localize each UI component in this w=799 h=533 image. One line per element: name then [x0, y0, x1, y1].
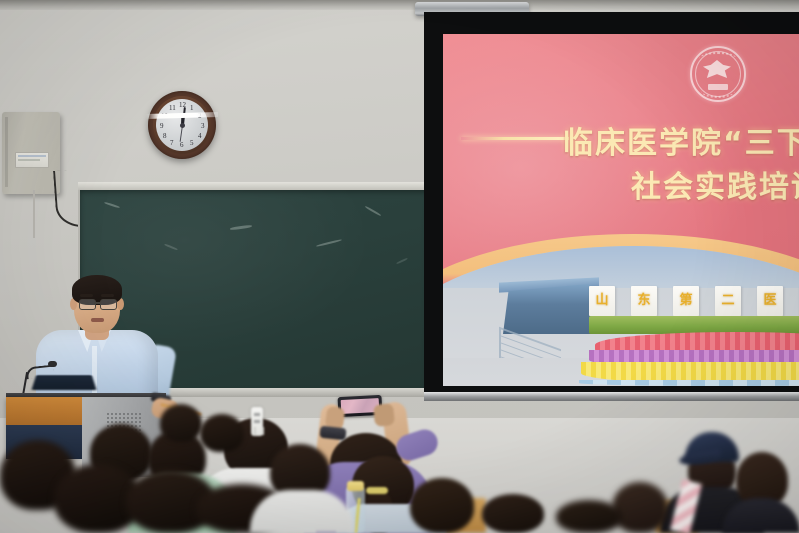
hair-clip — [251, 407, 263, 436]
university-crest-icon — [690, 46, 746, 102]
audience-head — [482, 494, 544, 533]
wall-conduit — [33, 190, 35, 238]
clock-center-pin — [180, 123, 185, 128]
presenter-eyebrow-right — [101, 294, 114, 297]
clock-numeral-9: 9 — [160, 123, 164, 130]
eyeglasses-icon — [79, 299, 96, 310]
wall-clock: 12 1 2 3 4 5 6 7 8 9 10 11 — [148, 91, 216, 159]
monument-char: 二 — [715, 294, 741, 307]
clock-numeral-3: 3 — [201, 123, 205, 130]
audience-head — [410, 478, 474, 533]
clock-numeral-7: 7 — [170, 140, 174, 147]
photo-hedge-row — [589, 316, 799, 334]
monument-char: 山 — [589, 294, 615, 307]
monument-char: 医 — [757, 294, 783, 307]
clock-numeral-11: 11 — [169, 105, 176, 112]
ceiling-edge — [0, 0, 799, 10]
monument-char: 东 — [631, 294, 657, 307]
audience-head — [556, 500, 622, 533]
crest-pinyin-text — [701, 84, 735, 98]
microphone-icon — [48, 361, 57, 367]
chalkboard-top-trim — [78, 182, 430, 190]
monument-stone: 山 — [589, 286, 615, 316]
laptop-on-podium — [31, 375, 96, 390]
clock-face: 12 1 2 3 4 5 6 7 8 9 10 11 — [156, 99, 208, 151]
chalk-smudge — [396, 258, 408, 265]
slide-accent-line — [461, 137, 569, 140]
eyeglasses-bridge — [94, 302, 100, 304]
clock-numeral-8: 8 — [163, 133, 167, 140]
audience-head — [160, 404, 202, 442]
chalk-smudge — [104, 202, 120, 209]
clock-numeral-4: 4 — [198, 133, 202, 140]
monument-stone: 二 — [715, 286, 741, 316]
photographer-hand-right — [373, 403, 395, 427]
clock-numeral-1: 1 — [190, 105, 194, 112]
monument-stone: 东 — [631, 286, 657, 316]
photo-building — [503, 284, 595, 334]
monument-char: 第 — [673, 294, 699, 307]
chalk-smudge — [365, 206, 382, 217]
audience-head — [612, 482, 668, 533]
slide-campus-photo-band: 山 东 第 二 医 科 大 — [443, 230, 799, 386]
classroom-photograph: 12 1 2 3 4 5 6 7 8 9 10 11 — [0, 0, 799, 533]
monument-stone: 第 — [673, 286, 699, 316]
slide-title-line-2: 社会实践培训 — [631, 162, 799, 206]
eyeglasses-lens-right — [100, 299, 117, 310]
screen-bottom-bar — [424, 392, 799, 401]
monument-stone: 医 — [757, 286, 783, 316]
audience-head — [200, 414, 244, 452]
hair-tie — [366, 487, 388, 494]
slide-title-line-1: 临床医学院“三下乡” — [563, 118, 799, 162]
junction-box-label — [15, 152, 49, 168]
photo-sky — [443, 246, 799, 288]
clock-numeral-6: 6 — [180, 142, 184, 149]
presenter-eyebrow-left — [80, 294, 93, 297]
presenter-mouth — [91, 318, 104, 322]
campus-photo: 山 东 第 二 医 科 大 — [443, 246, 799, 386]
chalk-smudge — [316, 239, 342, 247]
projection-screen-surface: 临床医学院“三下乡” 社会实践培训 山 东 第 二 医 科 大 — [443, 34, 799, 386]
clock-numeral-5: 5 — [190, 140, 194, 147]
chalk-smudge — [230, 224, 252, 230]
chalk-smudge — [164, 243, 178, 250]
bottle-cap — [347, 481, 364, 491]
photographer-wristwatch — [319, 426, 346, 441]
